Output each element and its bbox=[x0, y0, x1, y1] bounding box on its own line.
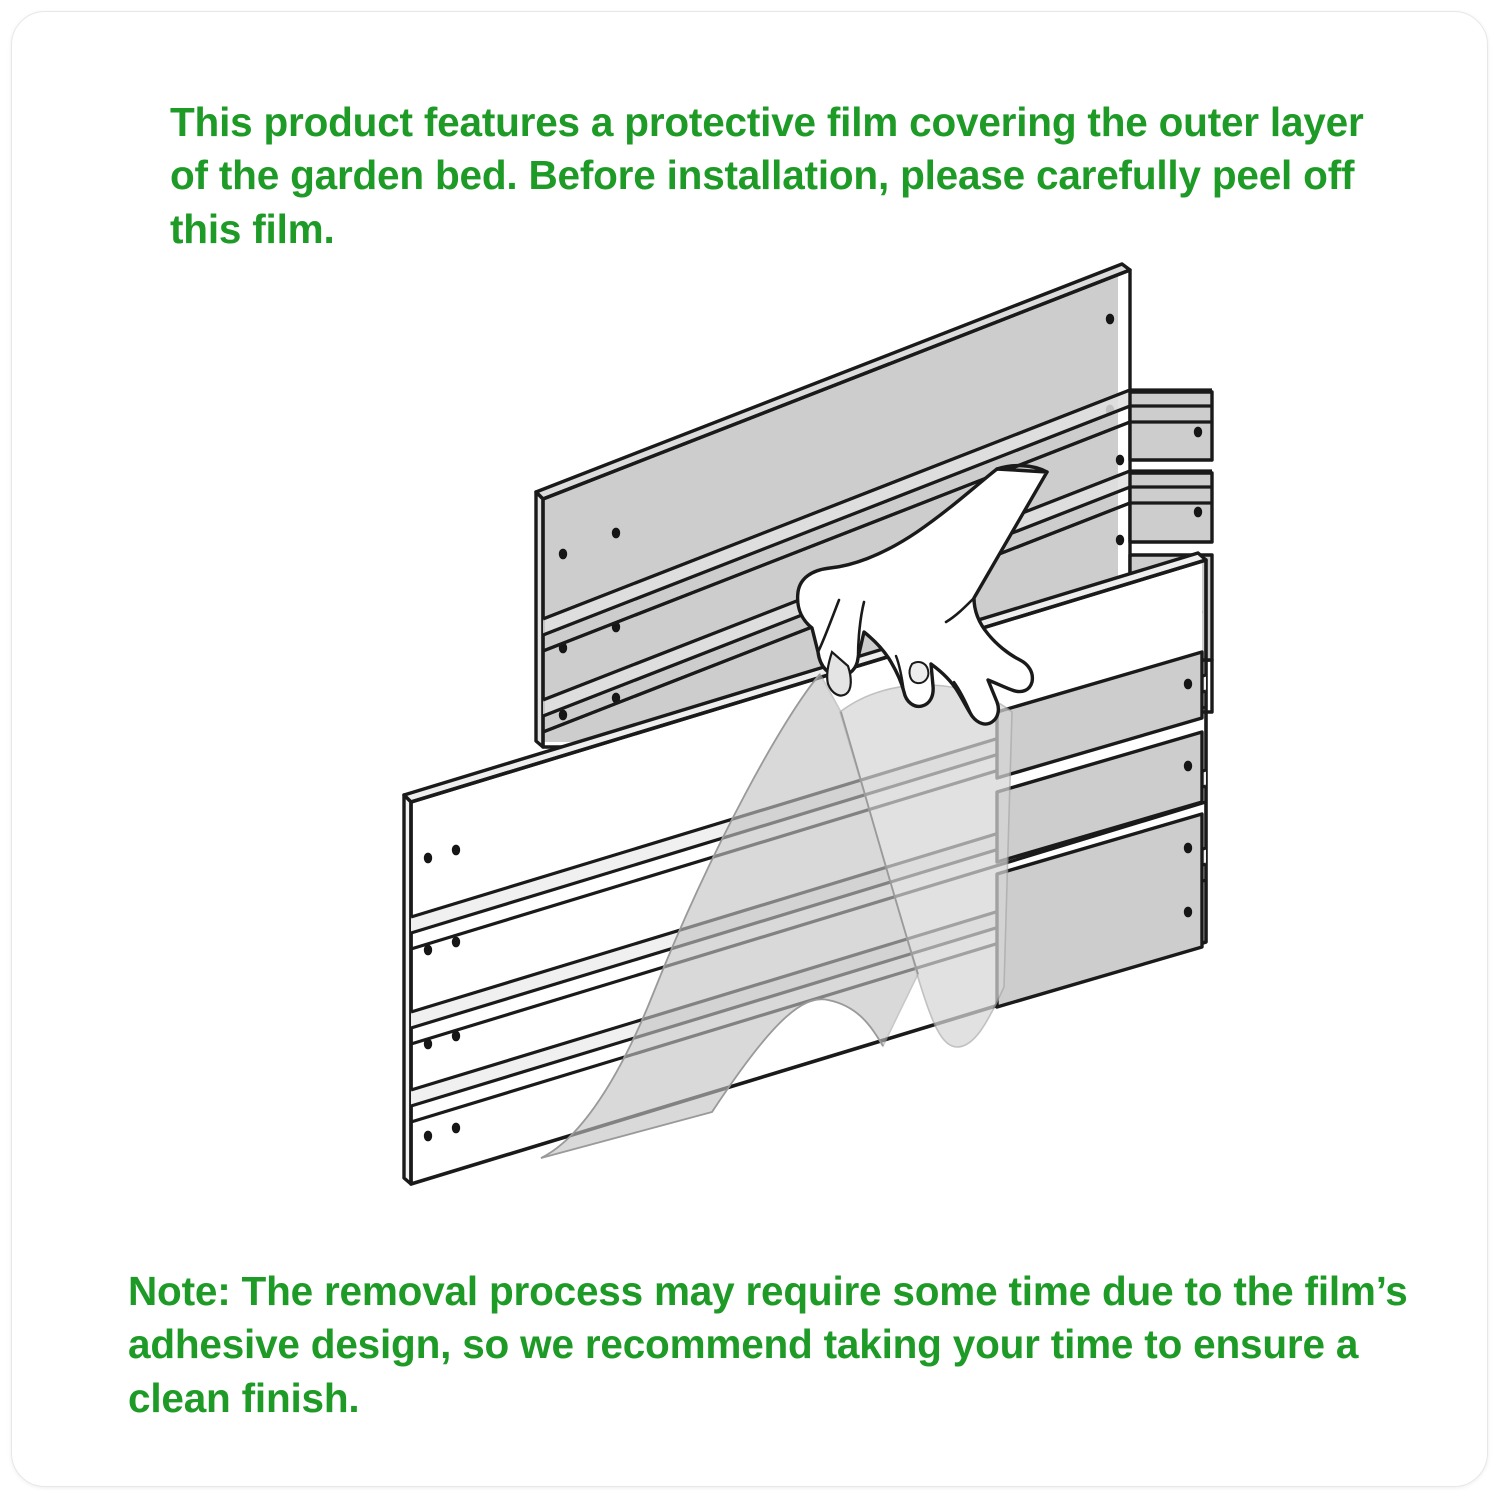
page-title: This product features a protective film … bbox=[170, 96, 1375, 256]
page-root: This product features a protective film … bbox=[0, 0, 1500, 1499]
front-panel-right-step bbox=[997, 652, 1202, 1007]
instruction-card: This product features a protective film … bbox=[11, 11, 1488, 1487]
note-text: Note: The removal process may require so… bbox=[128, 1265, 1418, 1425]
